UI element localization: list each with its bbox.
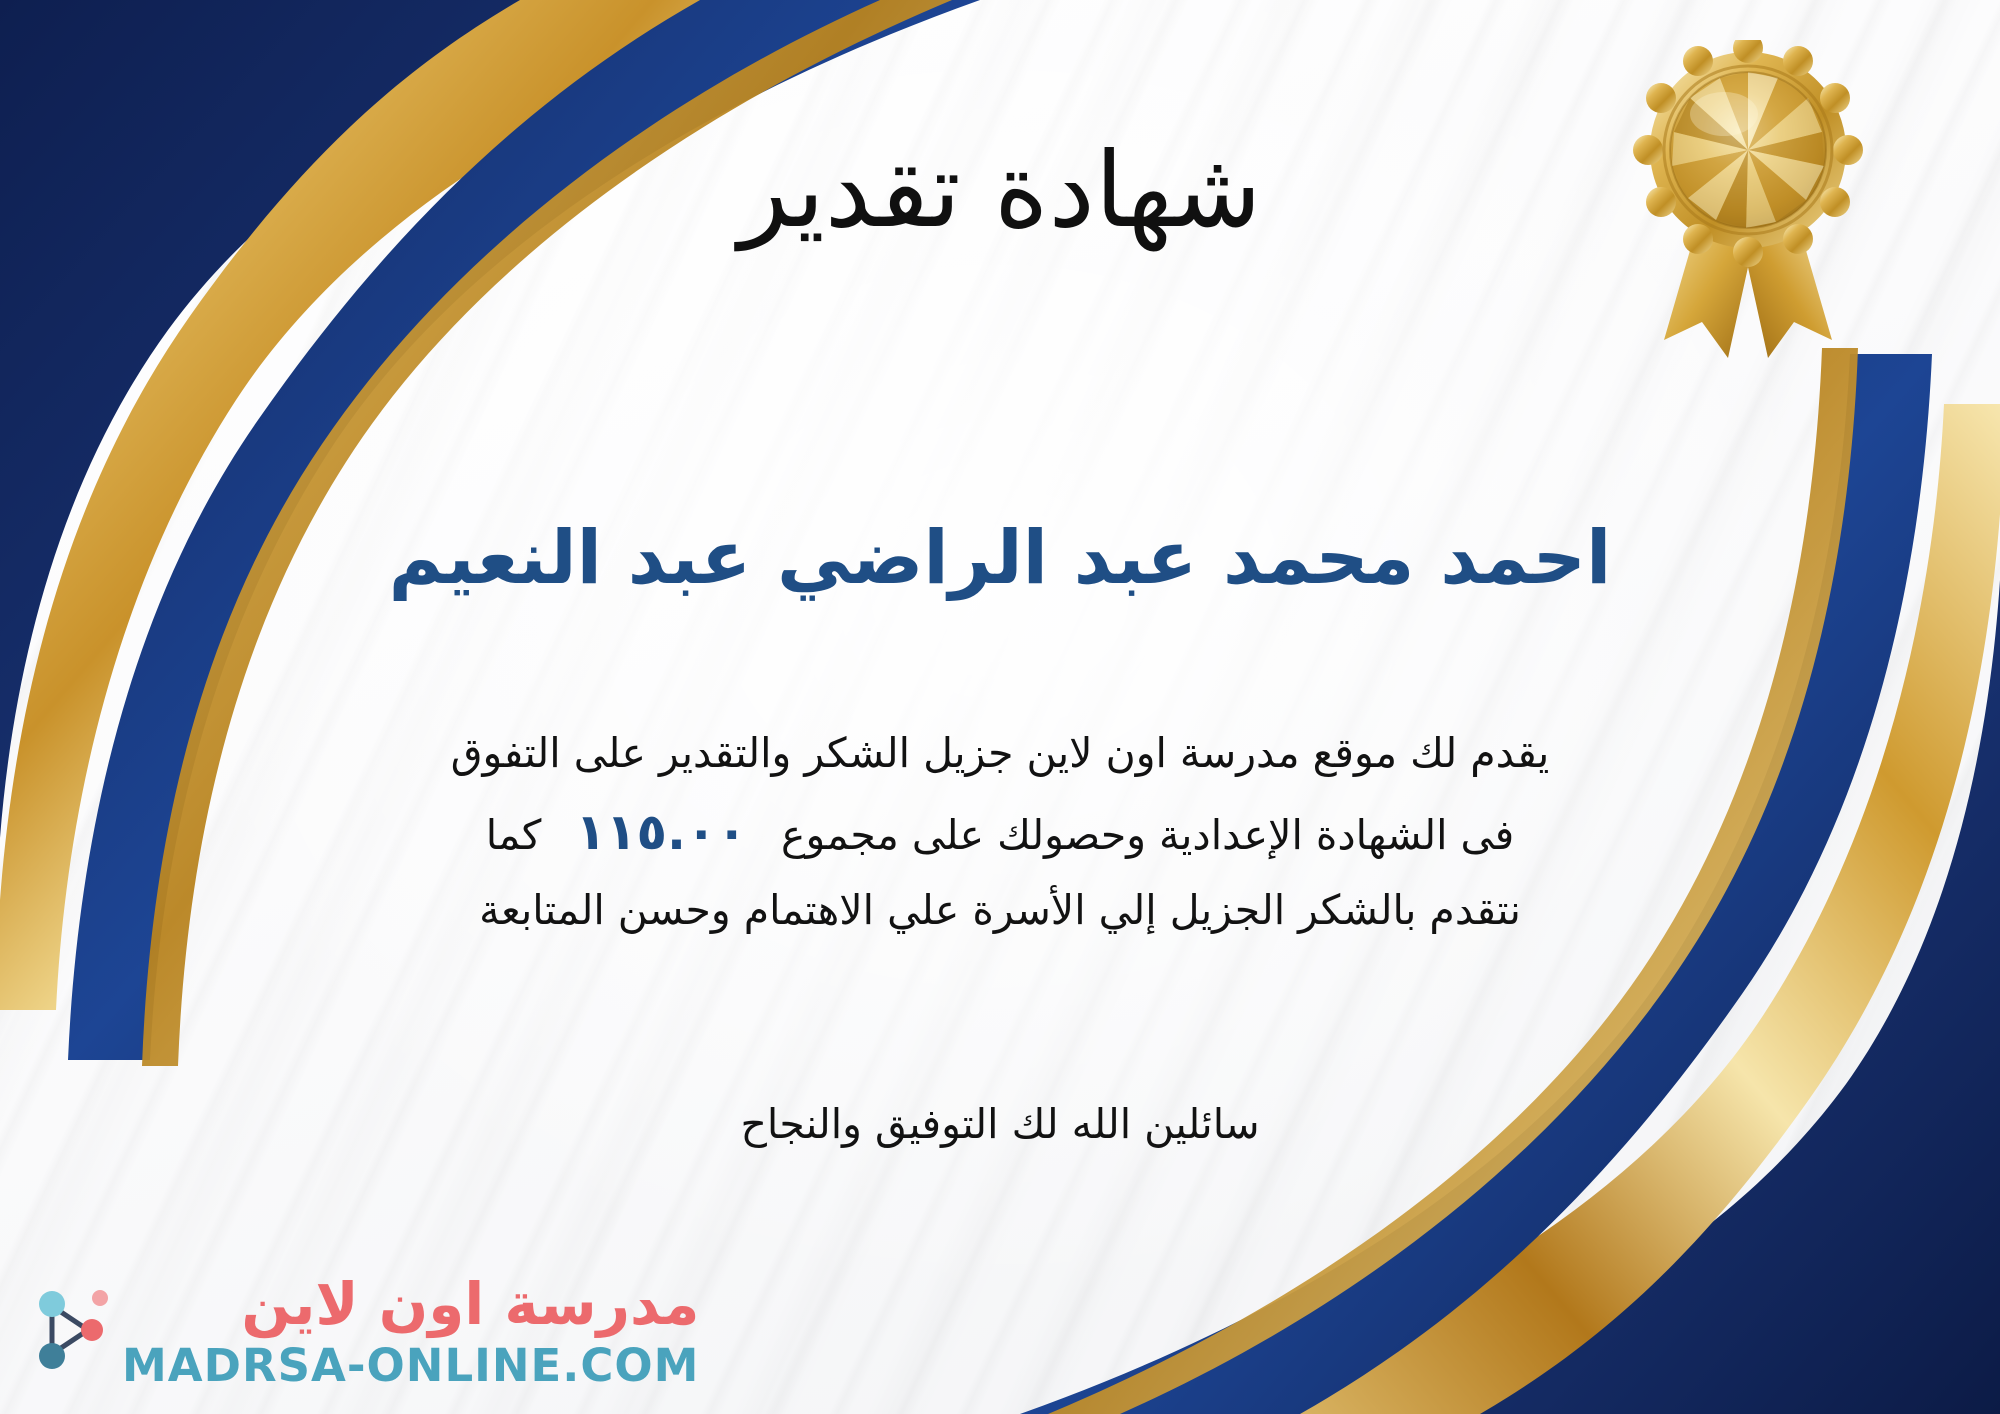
body-line-1: يقدم لك موقع مدرسة اون لاين جزيل الشكر و… [60, 718, 1940, 789]
brand-text: مدرسة اون لاين MADRSA-ONLINE.COM [122, 1275, 699, 1388]
certificate-canvas: شهادة تقدير احمد محمد عبد الراضي عبد الن… [0, 0, 2000, 1414]
body-line-2-prefix: فى الشهادة الإعدادية وحصولك على مجموع [781, 811, 1514, 859]
network-nodes-icon [26, 1280, 112, 1384]
brand-logo[interactable]: مدرسة اون لاين MADRSA-ONLINE.COM [26, 1275, 699, 1388]
brand-website[interactable]: MADRSA-ONLINE.COM [122, 1343, 699, 1388]
award-rosette-icon [1628, 40, 1868, 370]
brand-arabic-name: مدرسة اون لاين [241, 1275, 699, 1333]
body-line-3: نتقدم بالشكر الجزيل إلي الأسرة علي الاهت… [60, 875, 1940, 946]
closing-line: سائلين الله لك التوفيق والنجاح [0, 1100, 2000, 1148]
grade-value: ١١٥.٠٠ [541, 803, 781, 861]
body-line-2: فى الشهادة الإعدادية وحصولك على مجموع١١٥… [60, 789, 1940, 875]
recipient-name: احمد محمد عبد الراضي عبد النعيم [0, 516, 2000, 601]
certificate-body: يقدم لك موقع مدرسة اون لاين جزيل الشكر و… [60, 718, 1940, 945]
rosette-disc [1670, 72, 1826, 228]
body-line-2-suffix: كما [486, 811, 542, 859]
